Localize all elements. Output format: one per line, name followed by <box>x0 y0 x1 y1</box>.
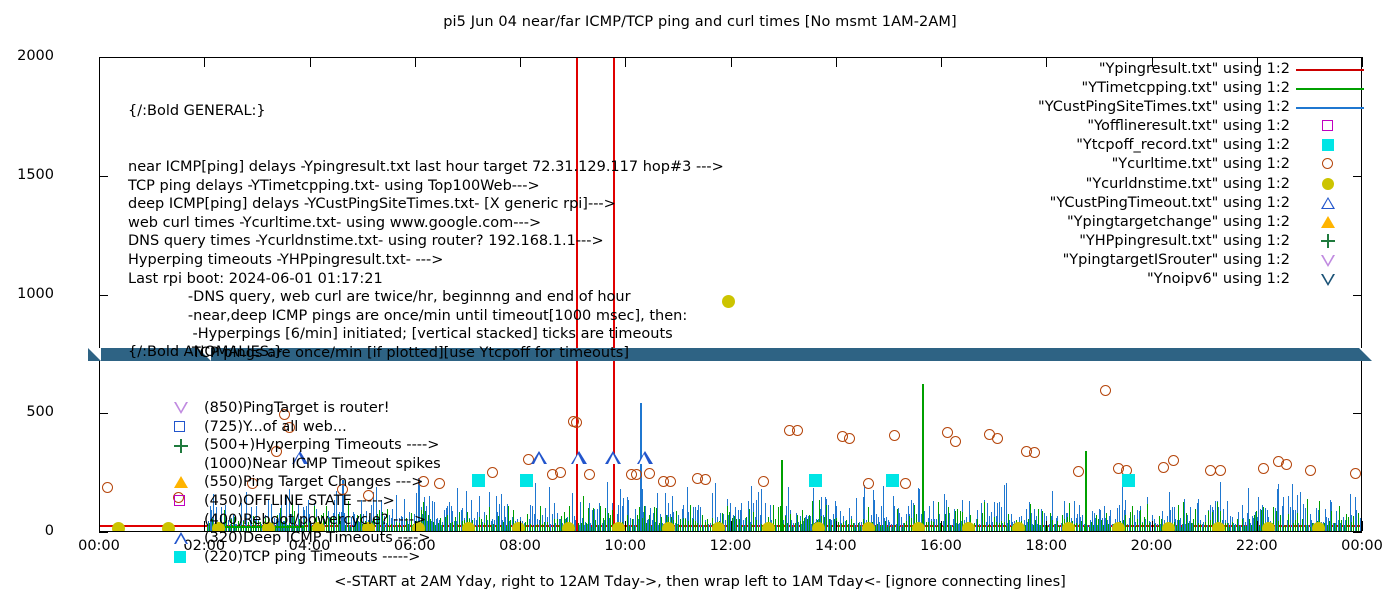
tcp-ping-sample <box>1244 526 1245 531</box>
tcp-ping-sample <box>455 517 456 531</box>
x-tick-mark <box>941 521 942 531</box>
tcp-ping-sample <box>1103 525 1104 531</box>
legend-key-triangle-up-fill-icon <box>1292 213 1368 232</box>
tcp-ping-sample <box>537 524 538 531</box>
tcp-ping-sample <box>732 518 733 531</box>
tcp-ping-sample <box>887 527 888 531</box>
legend-entry[interactable]: "YCustPingTimeout.txt" using 1:2 <box>1000 194 1290 213</box>
dns-time-point <box>1112 522 1125 532</box>
general-heading: {/:Bold GENERAL:} <box>128 102 724 121</box>
square-fill-cyan-icon <box>174 550 196 564</box>
tcp-ping-sample <box>627 515 628 531</box>
tcp-ping-sample <box>953 526 954 531</box>
legend-label: "YCustPingSiteTimes.txt" using 1:2 <box>1038 99 1290 115</box>
tcp-ping-sample <box>889 526 890 531</box>
tcp-ping-sample <box>1198 523 1199 531</box>
anomaly-label: (320)Deep ICMP Timeouts ----> <box>204 530 431 546</box>
triangle-down-violet-icon <box>174 401 196 415</box>
tcp-ping-sample <box>778 507 779 531</box>
tcp-ping-sample <box>705 522 706 531</box>
tcp-ping-sample <box>1047 526 1048 531</box>
tcp-ping-sample <box>1035 520 1036 531</box>
tcp-ping-sample <box>1079 524 1080 531</box>
tcp-ping-sample <box>787 523 788 531</box>
anomaly-row: (320)Deep ICMP Timeouts ----> <box>204 529 441 548</box>
tcp-ping-sample <box>987 526 988 531</box>
tcp-ping-sample <box>578 523 579 531</box>
dns-time-spike-point <box>722 295 735 308</box>
y-tick-mark-right <box>1353 532 1362 533</box>
tcp-ping-sample <box>875 526 876 531</box>
tcp-ping-sample <box>758 527 759 531</box>
tcp-ping-sample <box>1132 506 1133 531</box>
anomaly-label: (1000)Near ICMP Timeout spikes <box>204 456 441 472</box>
tcp-ping-sample <box>1358 513 1359 531</box>
tcp-ping-sample <box>1101 520 1102 531</box>
anomaly-row: (220)TCP ping Timeouts -----> <box>204 548 441 567</box>
plus-green-icon <box>174 438 196 452</box>
tcp-timeout-point <box>520 474 533 487</box>
dns-time-point <box>912 522 925 532</box>
tcp-ping-sample <box>1302 519 1303 531</box>
curl-time-point <box>863 478 874 489</box>
x-tick-label: 08:00 <box>480 538 560 554</box>
tcp-ping-sample <box>489 507 490 531</box>
dns-time-point <box>862 522 875 532</box>
tcp-ping-sample <box>506 526 507 531</box>
x-tick-mark-top <box>836 57 837 67</box>
tcp-ping-sample <box>977 519 978 531</box>
tcp-ping-sample <box>593 508 594 531</box>
curl-time-point <box>1305 465 1316 476</box>
tcp-ping-sample <box>834 519 835 531</box>
legend-key-triangle-down-open-icon <box>1292 251 1368 270</box>
curl-time-point <box>700 474 711 485</box>
general-note-line: Hyperping timeouts -YHPpingresult.txt- -… <box>128 251 724 270</box>
legend-key-square-open-icon <box>1292 117 1368 136</box>
legend-label: "Ycurltime.txt" using 1:2 <box>1112 156 1290 172</box>
general-note-line: web curl times -Ycurltime.txt- using www… <box>128 214 724 233</box>
anomaly-row: (400)Reboot/powercycle? ----> <box>204 511 441 530</box>
dns-time-point <box>562 522 575 532</box>
tcp-ping-sample <box>880 526 881 531</box>
anomaly-label: (400)Reboot/powercycle? ----> <box>204 512 426 528</box>
tcp-ping-sample <box>680 519 681 531</box>
tcp-ping-sample <box>1001 521 1002 531</box>
tcp-ping-sample <box>744 526 745 531</box>
tcp-ping-sample <box>1210 520 1211 531</box>
tcp-ping-sample <box>853 523 854 531</box>
tcp-ping-sample <box>600 506 601 531</box>
tcp-ping-sample <box>493 524 494 531</box>
tcp-ping-sample <box>1242 519 1243 531</box>
legend-entry[interactable]: "YTimetcpping.txt" using 1:2 <box>1000 79 1290 98</box>
curl-time-point <box>1350 468 1361 479</box>
tcp-ping-sample <box>1144 517 1145 531</box>
anomaly-row: (725)Y...of all web... <box>204 418 441 437</box>
tcp-ping-sample <box>1186 513 1187 531</box>
tcp-ping-sample <box>756 520 757 531</box>
tcp-ping-sample <box>1181 527 1182 531</box>
tcp-ping-sample <box>1227 523 1228 531</box>
x-tick-label: 00:00 <box>1322 538 1400 554</box>
tcp-ping-sample <box>557 519 558 531</box>
curl-time-point <box>900 478 911 489</box>
y-tick-mark-right <box>1353 57 1362 58</box>
tcp-ping-sample <box>1040 525 1041 531</box>
x-tick-mark <box>731 521 732 531</box>
tcp-ping-sample <box>1208 511 1209 531</box>
tcp-ping-sample <box>1127 525 1128 531</box>
y-tick-label: 500 <box>0 404 54 420</box>
tcp-ping-sample <box>826 505 827 531</box>
tcp-ping-sample <box>1205 522 1206 531</box>
tcp-ping-sample <box>1327 525 1328 531</box>
tcp-ping-sample <box>632 519 633 531</box>
tcp-ping-sample <box>1025 525 1026 531</box>
legend-entry[interactable]: "Ypingtargetchange" using 1:2 <box>1000 213 1290 232</box>
y-tick-mark-right <box>1353 413 1362 414</box>
tcp-ping-sample <box>1331 511 1332 531</box>
x-tick-label: 22:00 <box>1217 538 1297 554</box>
triangle-up-orange-icon <box>174 475 196 489</box>
tcp-ping-sample <box>1038 509 1039 531</box>
y-tick-mark <box>99 532 108 533</box>
tcp-ping-sample <box>800 521 801 531</box>
tcp-ping-sample <box>479 517 480 531</box>
dns-time-point <box>712 522 725 532</box>
x-tick-mark-top <box>731 57 732 67</box>
curl-time-point <box>950 436 961 447</box>
curl-time-point <box>942 427 953 438</box>
tcp-timeout-point <box>809 474 822 487</box>
general-note-line: DNS query times -Ycurldnstime.txt- using… <box>128 232 724 251</box>
deep-icmp-timeout-point <box>605 451 621 464</box>
tcp-ping-sample <box>1055 524 1056 531</box>
legend-label: "YHPpingresult.txt" using 1:2 <box>1079 233 1290 249</box>
tcp-ping-sample <box>751 524 752 531</box>
tcp-ping-sample <box>586 523 587 531</box>
tcp-ping-sample <box>753 512 754 531</box>
tcp-ping-sample <box>727 506 728 531</box>
tcp-ping-sample <box>851 519 852 531</box>
tcp-ping-sample <box>999 523 1000 531</box>
tcp-ping-sample <box>605 508 606 531</box>
tcp-ping-sample <box>1353 516 1354 531</box>
legend-entry[interactable]: "Ynoipv6" using 1:2 <box>1000 270 1290 289</box>
tcp-ping-sample <box>894 525 895 531</box>
tcp-ping-sample <box>450 523 451 531</box>
tcp-ping-sample <box>1125 515 1126 531</box>
tcp-ping-sample <box>1234 525 1235 531</box>
legend-label: "Yofflineresult.txt" using 1:2 <box>1087 118 1290 134</box>
general-note-line: deep ICMP[ping] delays -YCustPingSiteTim… <box>128 195 724 214</box>
tcp-ping-sample <box>1028 519 1029 531</box>
tcp-ping-sample <box>1057 521 1058 531</box>
dns-time-point <box>662 522 675 532</box>
tcp-ping-sample <box>809 515 810 531</box>
tcp-ping-sample <box>678 524 679 531</box>
tcp-ping-sample <box>676 511 677 531</box>
tcp-ping-sample <box>795 523 796 531</box>
tcp-ping-sample <box>797 515 798 531</box>
legend-entry[interactable]: "Yofflineresult.txt" using 1:2 <box>1000 117 1290 136</box>
tcp-ping-sample <box>1178 505 1179 531</box>
anomalies-heading: {/:Bold ANOMALIES:} <box>128 343 441 362</box>
legend-label: "Ycurldnstime.txt" using 1:2 <box>1086 176 1290 192</box>
tcp-ping-sample <box>651 526 652 531</box>
legend-entry[interactable]: "YCustPingSiteTimes.txt" using 1:2 <box>1000 98 1290 117</box>
tcp-ping-sample <box>802 510 803 531</box>
tcp-ping-sample <box>554 519 555 531</box>
tcp-ping-sample <box>734 516 735 531</box>
tcp-ping-sample <box>445 517 446 531</box>
tcp-ping-sample <box>540 506 541 531</box>
tcp-ping-sample <box>1259 526 1260 531</box>
tcp-ping-sample <box>1030 504 1031 531</box>
tcp-ping-sample <box>897 509 898 531</box>
legend-entry[interactable]: "YpingtargetISrouter" using 1:2 <box>1000 251 1290 270</box>
tcp-ping-sample <box>957 509 958 532</box>
tcp-ping-sample <box>527 514 528 531</box>
tcp-ping-sample <box>1098 519 1099 531</box>
tcp-ping-sample <box>838 522 839 531</box>
noise-spike <box>1085 451 1087 531</box>
tcp-ping-sample <box>989 524 990 531</box>
tcp-ping-sample <box>702 515 703 531</box>
tcp-ping-sample <box>1008 514 1009 531</box>
tcp-ping-sample <box>1356 527 1357 531</box>
x-tick-mark <box>836 521 837 531</box>
x-tick-label: 16:00 <box>901 538 981 554</box>
tcp-ping-sample <box>1159 516 1160 531</box>
anomaly-label: (550)Ping Target Changes ---> <box>204 474 423 490</box>
tcp-ping-sample <box>1339 506 1340 531</box>
tcp-ping-sample <box>899 526 900 531</box>
tcp-ping-sample <box>1147 504 1148 531</box>
tcp-ping-sample <box>858 523 859 531</box>
tcp-ping-sample <box>700 527 701 531</box>
y-tick-label: 1500 <box>0 167 54 183</box>
tcp-ping-sample <box>991 526 992 531</box>
tcp-ping-sample <box>637 515 638 531</box>
x-tick-mark <box>1362 521 1363 531</box>
tcp-ping-sample <box>595 520 596 531</box>
general-note-line: -DNS query, web curl are twice/hr, begin… <box>128 288 724 307</box>
tcp-timeout-point <box>472 474 485 487</box>
tcp-ping-sample <box>1176 526 1177 531</box>
tcp-ping-sample <box>1042 511 1043 531</box>
tcp-ping-sample <box>931 521 932 531</box>
tcp-ping-sample <box>693 519 694 531</box>
tcp-ping-sample <box>547 522 548 531</box>
noise-spike <box>781 460 783 531</box>
tcp-ping-sample <box>649 515 650 531</box>
legend-key-triangle-up-open-icon <box>1292 194 1368 213</box>
tcp-ping-sample <box>792 527 793 531</box>
curl-time-point <box>1029 447 1040 458</box>
tcp-ping-sample <box>1149 523 1150 531</box>
tcp-ping-sample <box>683 518 684 531</box>
noise-spike <box>922 384 924 531</box>
tcp-ping-sample <box>1290 527 1291 531</box>
tcp-ping-sample <box>1348 517 1349 531</box>
tcp-ping-sample <box>1154 524 1155 531</box>
tcp-ping-sample <box>1096 515 1097 531</box>
anomalies-notes-block: {/:Bold ANOMALIES:} (850)PingTarget is r… <box>128 306 441 604</box>
x-tick-label: 14:00 <box>796 538 876 554</box>
dns-time-point <box>962 522 975 532</box>
tcp-ping-sample <box>525 522 526 531</box>
tcp-ping-sample <box>1157 526 1158 531</box>
dns-time-point <box>462 522 475 532</box>
tcp-ping-sample <box>1297 513 1298 531</box>
curl-time-point <box>1100 385 1111 396</box>
tcp-ping-sample <box>1276 511 1277 531</box>
legend-key-square-fill-icon <box>1292 136 1368 155</box>
tcp-ping-sample <box>1305 525 1306 531</box>
x-tick-label: 18:00 <box>1006 538 1086 554</box>
tcp-ping-sample <box>877 524 878 531</box>
tcp-ping-sample <box>882 525 883 531</box>
dns-time-point <box>1162 522 1175 532</box>
curl-time-point <box>1205 465 1216 476</box>
tcp-ping-sample <box>846 520 847 531</box>
tcp-ping-sample <box>843 522 844 531</box>
x-tick-mark <box>625 521 626 531</box>
tcp-ping-sample <box>950 525 951 531</box>
dns-time-point <box>1312 522 1325 532</box>
legend-label: "YCustPingTimeout.txt" using 1:2 <box>1050 195 1290 211</box>
curl-time-point <box>487 467 498 478</box>
dns-time-point <box>1012 522 1025 532</box>
x-tick-label: 20:00 <box>1112 538 1192 554</box>
legend-key-line-icon <box>1292 98 1368 117</box>
tcp-ping-sample <box>1285 525 1286 531</box>
legend-entry[interactable]: "Ytcpoff_record.txt" using 1:2 <box>1000 136 1290 155</box>
tcp-ping-sample <box>1137 519 1138 531</box>
anomaly-row: (1000)Near ICMP Timeout spikes <box>204 455 441 474</box>
legend-entry[interactable]: "YHPpingresult.txt" using 1:2 <box>1000 232 1290 251</box>
tcp-ping-sample <box>481 519 482 531</box>
dns-time-point <box>1062 522 1075 532</box>
tcp-ping-sample <box>1249 519 1250 531</box>
tcp-ping-sample <box>979 526 980 531</box>
tcp-ping-sample <box>629 526 630 531</box>
tcp-ping-sample <box>1239 526 1240 531</box>
tcp-ping-sample <box>476 526 477 531</box>
legend-entry[interactable]: "Ycurldnstime.txt" using 1:2 <box>1000 175 1290 194</box>
dns-time-point <box>612 522 625 532</box>
y-tick-mark <box>99 176 108 177</box>
legend-key-plus-icon <box>1292 232 1368 251</box>
anomaly-row: (450)OFFLINE STATE -----> <box>204 492 441 511</box>
tcp-ping-sample <box>1232 522 1233 531</box>
tcp-ping-sample <box>1334 523 1335 531</box>
tcp-ping-sample <box>1191 523 1192 531</box>
tcp-ping-sample <box>1254 515 1255 531</box>
anomaly-row: (550)Ping Target Changes ---> <box>204 473 441 492</box>
tcp-ping-sample <box>936 526 937 531</box>
tcp-ping-sample <box>530 524 531 531</box>
tcp-ping-sample <box>960 511 961 531</box>
tcp-ping-sample <box>1106 513 1107 531</box>
legend-entry[interactable]: "Ycurltime.txt" using 1:2 <box>1000 155 1290 174</box>
tcp-ping-sample <box>841 524 842 531</box>
tcp-ping-sample <box>1293 523 1294 531</box>
tcp-ping-sample <box>1091 522 1092 531</box>
tcp-ping-sample <box>552 527 553 531</box>
tcp-ping-sample <box>746 517 747 531</box>
tcp-ping-sample <box>996 522 997 532</box>
tcp-ping-sample <box>807 519 808 531</box>
tcp-ping-sample <box>1229 527 1230 531</box>
legend-key-circle-fill-icon <box>1292 175 1368 194</box>
tcp-ping-sample <box>508 506 509 531</box>
curl-time-point <box>1215 465 1226 476</box>
curl-time-point <box>1073 466 1084 477</box>
curl-time-point <box>758 476 769 487</box>
general-note-line: near ICMP[ping] delays -Ypingresult.txt … <box>128 158 724 177</box>
tcp-ping-sample <box>1059 526 1060 531</box>
triangle-up-blue-icon <box>174 531 196 545</box>
tcp-ping-sample <box>644 506 645 531</box>
tcp-ping-sample <box>1237 519 1238 531</box>
tcp-ping-sample <box>739 519 740 531</box>
curl-time-point <box>555 467 566 478</box>
tcp-ping-sample <box>610 515 611 531</box>
legend: "Ypingresult.txt" using 1:2"YTimetcpping… <box>1000 60 1290 289</box>
tcp-ping-sample <box>459 512 460 531</box>
x-tick-mark <box>1046 521 1047 531</box>
tcp-ping-sample <box>1195 509 1196 531</box>
tcp-ping-sample <box>885 521 886 531</box>
tcp-ping-sample <box>848 524 849 531</box>
legend-entry[interactable]: "Ypingresult.txt" using 1:2 <box>1000 60 1290 79</box>
tcp-ping-sample <box>685 519 686 531</box>
y-tick-label: 0 <box>0 523 54 539</box>
tcp-ping-sample <box>902 527 903 531</box>
x-tick-label: 10:00 <box>585 538 665 554</box>
y-tick-mark <box>99 413 108 414</box>
tcp-ping-sample <box>1076 523 1077 531</box>
tcp-ping-sample <box>948 507 949 531</box>
tcp-ping-sample <box>906 521 907 531</box>
curl-time-point <box>1258 463 1269 474</box>
tcp-ping-sample <box>1089 527 1090 531</box>
general-note-line: Last rpi boot: 2024-06-01 01:17:21 <box>128 270 724 289</box>
tcp-ping-sample <box>1351 522 1352 531</box>
curl-time-point <box>844 433 855 444</box>
tcp-ping-sample <box>1329 521 1330 531</box>
anomaly-label: (450)OFFLINE STATE -----> <box>204 493 395 509</box>
tcp-ping-sample <box>904 523 905 531</box>
tcp-ping-sample <box>697 523 698 531</box>
axis-break-nick-right <box>1359 348 1372 361</box>
curl-time-point <box>584 469 595 480</box>
tcp-ping-sample <box>1188 523 1189 531</box>
legend-label: "YTimetcpping.txt" using 1:2 <box>1082 80 1290 96</box>
tcp-ping-sample <box>583 496 584 531</box>
tcp-ping-sample <box>695 521 696 531</box>
tcp-ping-sample <box>544 522 545 531</box>
legend-key-line-icon <box>1292 60 1368 79</box>
tcp-ping-sample <box>690 505 691 531</box>
y-tick-mark <box>99 295 108 296</box>
tcp-ping-sample <box>581 523 582 531</box>
tcp-ping-sample <box>1310 527 1311 531</box>
curl-time-point <box>102 482 113 493</box>
